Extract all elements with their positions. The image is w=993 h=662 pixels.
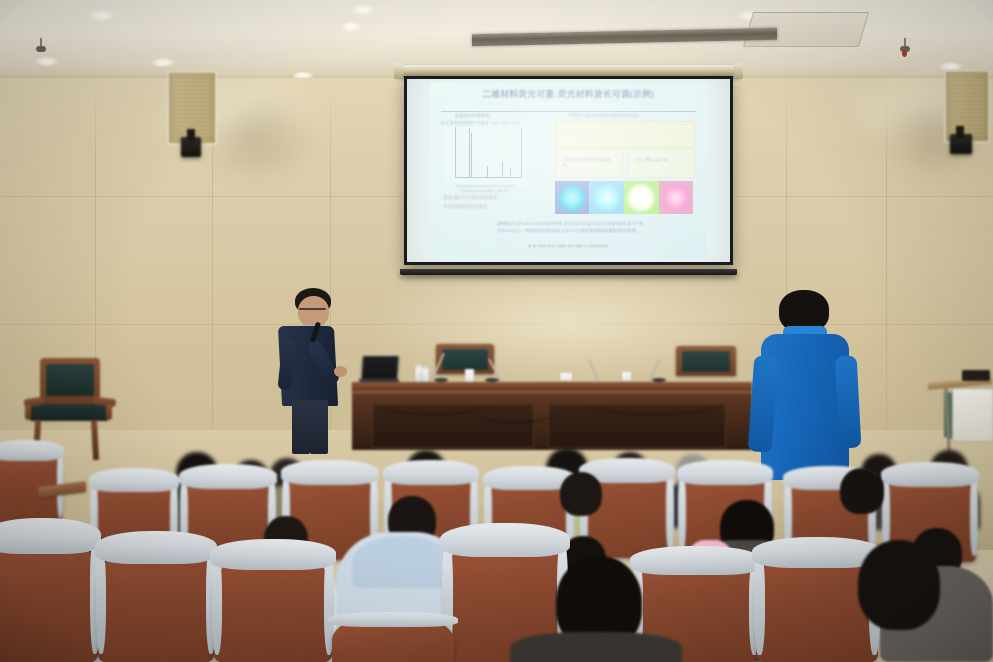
seat-headrest-cap xyxy=(440,523,569,558)
attendee-arm xyxy=(835,355,862,448)
slide-title: 二维材料荧光可重:荧光材料波长可调(示例) xyxy=(441,86,697,109)
easel-tray-object xyxy=(962,370,990,381)
swatch-cyan xyxy=(589,181,624,214)
spectrum-caption: Photoluminescence spectra of samples Exc… xyxy=(443,184,526,194)
armchair-arm-post xyxy=(106,404,112,420)
spectrum-y-axis xyxy=(455,127,456,178)
slide-red-note-1: 结论:通过尺寸调控可实现全 xyxy=(443,195,497,201)
audience-head xyxy=(858,540,940,630)
casing-end-cap xyxy=(394,63,403,79)
standing-attendee-blue-jacket xyxy=(751,290,863,480)
screen-surface: 二维材料荧光可重:荧光材料波长可调(示例) 样品发光光谱表征 荧光发射强度随尺寸… xyxy=(407,79,730,262)
seat-headrest-cap xyxy=(179,464,277,489)
screen-bottom-bar xyxy=(400,269,737,275)
seat-headrest-cap xyxy=(281,460,379,485)
swatch-green-white xyxy=(624,181,659,214)
auditorium-seat xyxy=(0,443,62,523)
swatch-circle xyxy=(558,184,585,211)
seat-side-bolster xyxy=(666,470,674,553)
seat-side-bolster xyxy=(96,546,106,654)
slide-red-note-2: 可见光波段的荧光发射 xyxy=(443,204,487,210)
swatch-circle xyxy=(663,184,690,211)
armchair-arm-post xyxy=(25,404,31,420)
paper-cup xyxy=(465,369,474,382)
seat-side-bolster xyxy=(754,552,765,655)
spectrum-peak xyxy=(502,162,503,177)
seat-headrest-cap xyxy=(210,539,335,570)
ceiling-downlight xyxy=(342,22,360,31)
presenter-speaking xyxy=(266,288,378,454)
slide-panel-note-1: 不同激发条件下的发光性能参数表 xyxy=(563,158,613,168)
audience-torso xyxy=(510,632,682,662)
spectrum-peak xyxy=(471,133,472,177)
seat-headrest-cap xyxy=(383,460,478,485)
audience-head xyxy=(560,472,602,516)
slide-panel-note-2: 尺寸 / 带隙 / 量子产率 xyxy=(635,158,685,163)
paper-cup xyxy=(622,372,631,381)
screen-bezel: 二维材料荧光可重:荧光材料波长可调(示例) 样品发光光谱表征 荧光发射强度随尺寸… xyxy=(404,76,733,265)
power-cable xyxy=(588,392,718,415)
slide-panel-main xyxy=(555,121,696,148)
auditorium-seat xyxy=(0,524,98,662)
slide-citation: B. Q. Chen et al., Light: Sci. Appl. 4, … xyxy=(443,244,693,248)
auditorium-seat xyxy=(214,544,332,662)
spectrum-x-axis xyxy=(455,177,522,178)
sprinkler-bulb xyxy=(902,50,907,57)
lecture-hall-photo: 二维材料荧光可重:荧光材料波长可调(示例) 样品发光光谱表征 荧光发射强度随尺寸… xyxy=(0,0,993,662)
seat-headrest-cap xyxy=(0,518,101,554)
emission-color-swatches xyxy=(555,181,694,214)
sprinkler-head xyxy=(36,46,46,52)
presenter-glasses xyxy=(299,308,326,310)
wall-speaker-left xyxy=(167,71,217,145)
ceiling-downlight xyxy=(152,58,174,67)
seat-headrest-cap xyxy=(328,612,457,628)
projected-slide: 二维材料荧光可重:荧光材料波长可调(示例) 样品发光光谱表征 荧光发射强度随尺寸… xyxy=(430,83,708,259)
swatch-circle xyxy=(593,184,620,211)
ceiling-downlight xyxy=(352,5,374,15)
seat-headrest-cap xyxy=(95,531,218,564)
seat-headrest-cap xyxy=(89,468,178,491)
seat-headrest-cap xyxy=(0,440,64,461)
projection-screen: 二维材料荧光可重:荧光材料波长可调(示例) 样品发光光谱表征 荧光发射强度随尺寸… xyxy=(398,65,739,275)
presenter-leg xyxy=(310,400,328,454)
slide-right-heading: 不同尺寸量子点的荧光发射颜色对比 xyxy=(568,113,638,119)
presenter-head xyxy=(298,296,329,327)
power-cable xyxy=(470,396,560,423)
armchair-back-pad xyxy=(46,364,94,396)
ceiling-downlight xyxy=(36,57,58,66)
wall-panel-seam xyxy=(886,78,887,458)
audience-hood xyxy=(352,536,452,588)
emission-spectrum-plot: Photoluminescence spectra of samples Exc… xyxy=(443,123,526,186)
swatch-circle xyxy=(628,184,655,211)
spectrum-y2-axis xyxy=(521,127,522,178)
presenter-leg xyxy=(292,400,310,454)
seat-headrest-cap xyxy=(630,546,761,575)
paper-cup xyxy=(560,373,572,381)
spectrum-peak xyxy=(487,166,488,177)
seat-headrest-cap xyxy=(677,460,772,484)
slide-left-heading: 样品发光光谱表征 xyxy=(455,113,490,119)
slide-body-text: 二维材料(尺寸约100nm)的光致发光特性:发光波长可在蓝光至红光范围内调节,量… xyxy=(443,220,693,234)
presidium-chair xyxy=(676,346,736,376)
fire-sprinkler xyxy=(36,38,46,58)
swatch-blue-cyan xyxy=(555,181,590,214)
seat-headrest-cap xyxy=(881,462,979,487)
slide-title-rule xyxy=(441,111,697,112)
flipchart-easel xyxy=(928,362,992,462)
speaker-bracket xyxy=(187,129,195,141)
seat-side-bolster xyxy=(970,474,978,557)
swatch-pink xyxy=(659,181,694,214)
auditorium-seat xyxy=(332,614,454,662)
seat-side-bolster xyxy=(212,553,223,654)
casing-end-cap xyxy=(734,63,743,79)
audience-head xyxy=(840,468,884,514)
armchair-leg xyxy=(91,420,99,460)
auditorium-seat xyxy=(98,536,214,662)
speaker-niche-texture xyxy=(948,74,986,139)
fire-sprinkler xyxy=(900,38,910,60)
slide-panel-right xyxy=(627,149,696,177)
spectrum-peak xyxy=(510,168,511,177)
ceiling-downlight xyxy=(90,10,114,21)
wall-speaker-right xyxy=(944,70,990,143)
speaker-bracket xyxy=(956,126,964,138)
easel-board xyxy=(952,388,993,442)
presenter-hand xyxy=(334,366,347,377)
seat-side-bolster xyxy=(678,472,686,553)
air-return-vent xyxy=(472,28,777,46)
water-bottle xyxy=(422,369,429,382)
armchair-seat xyxy=(30,404,108,421)
